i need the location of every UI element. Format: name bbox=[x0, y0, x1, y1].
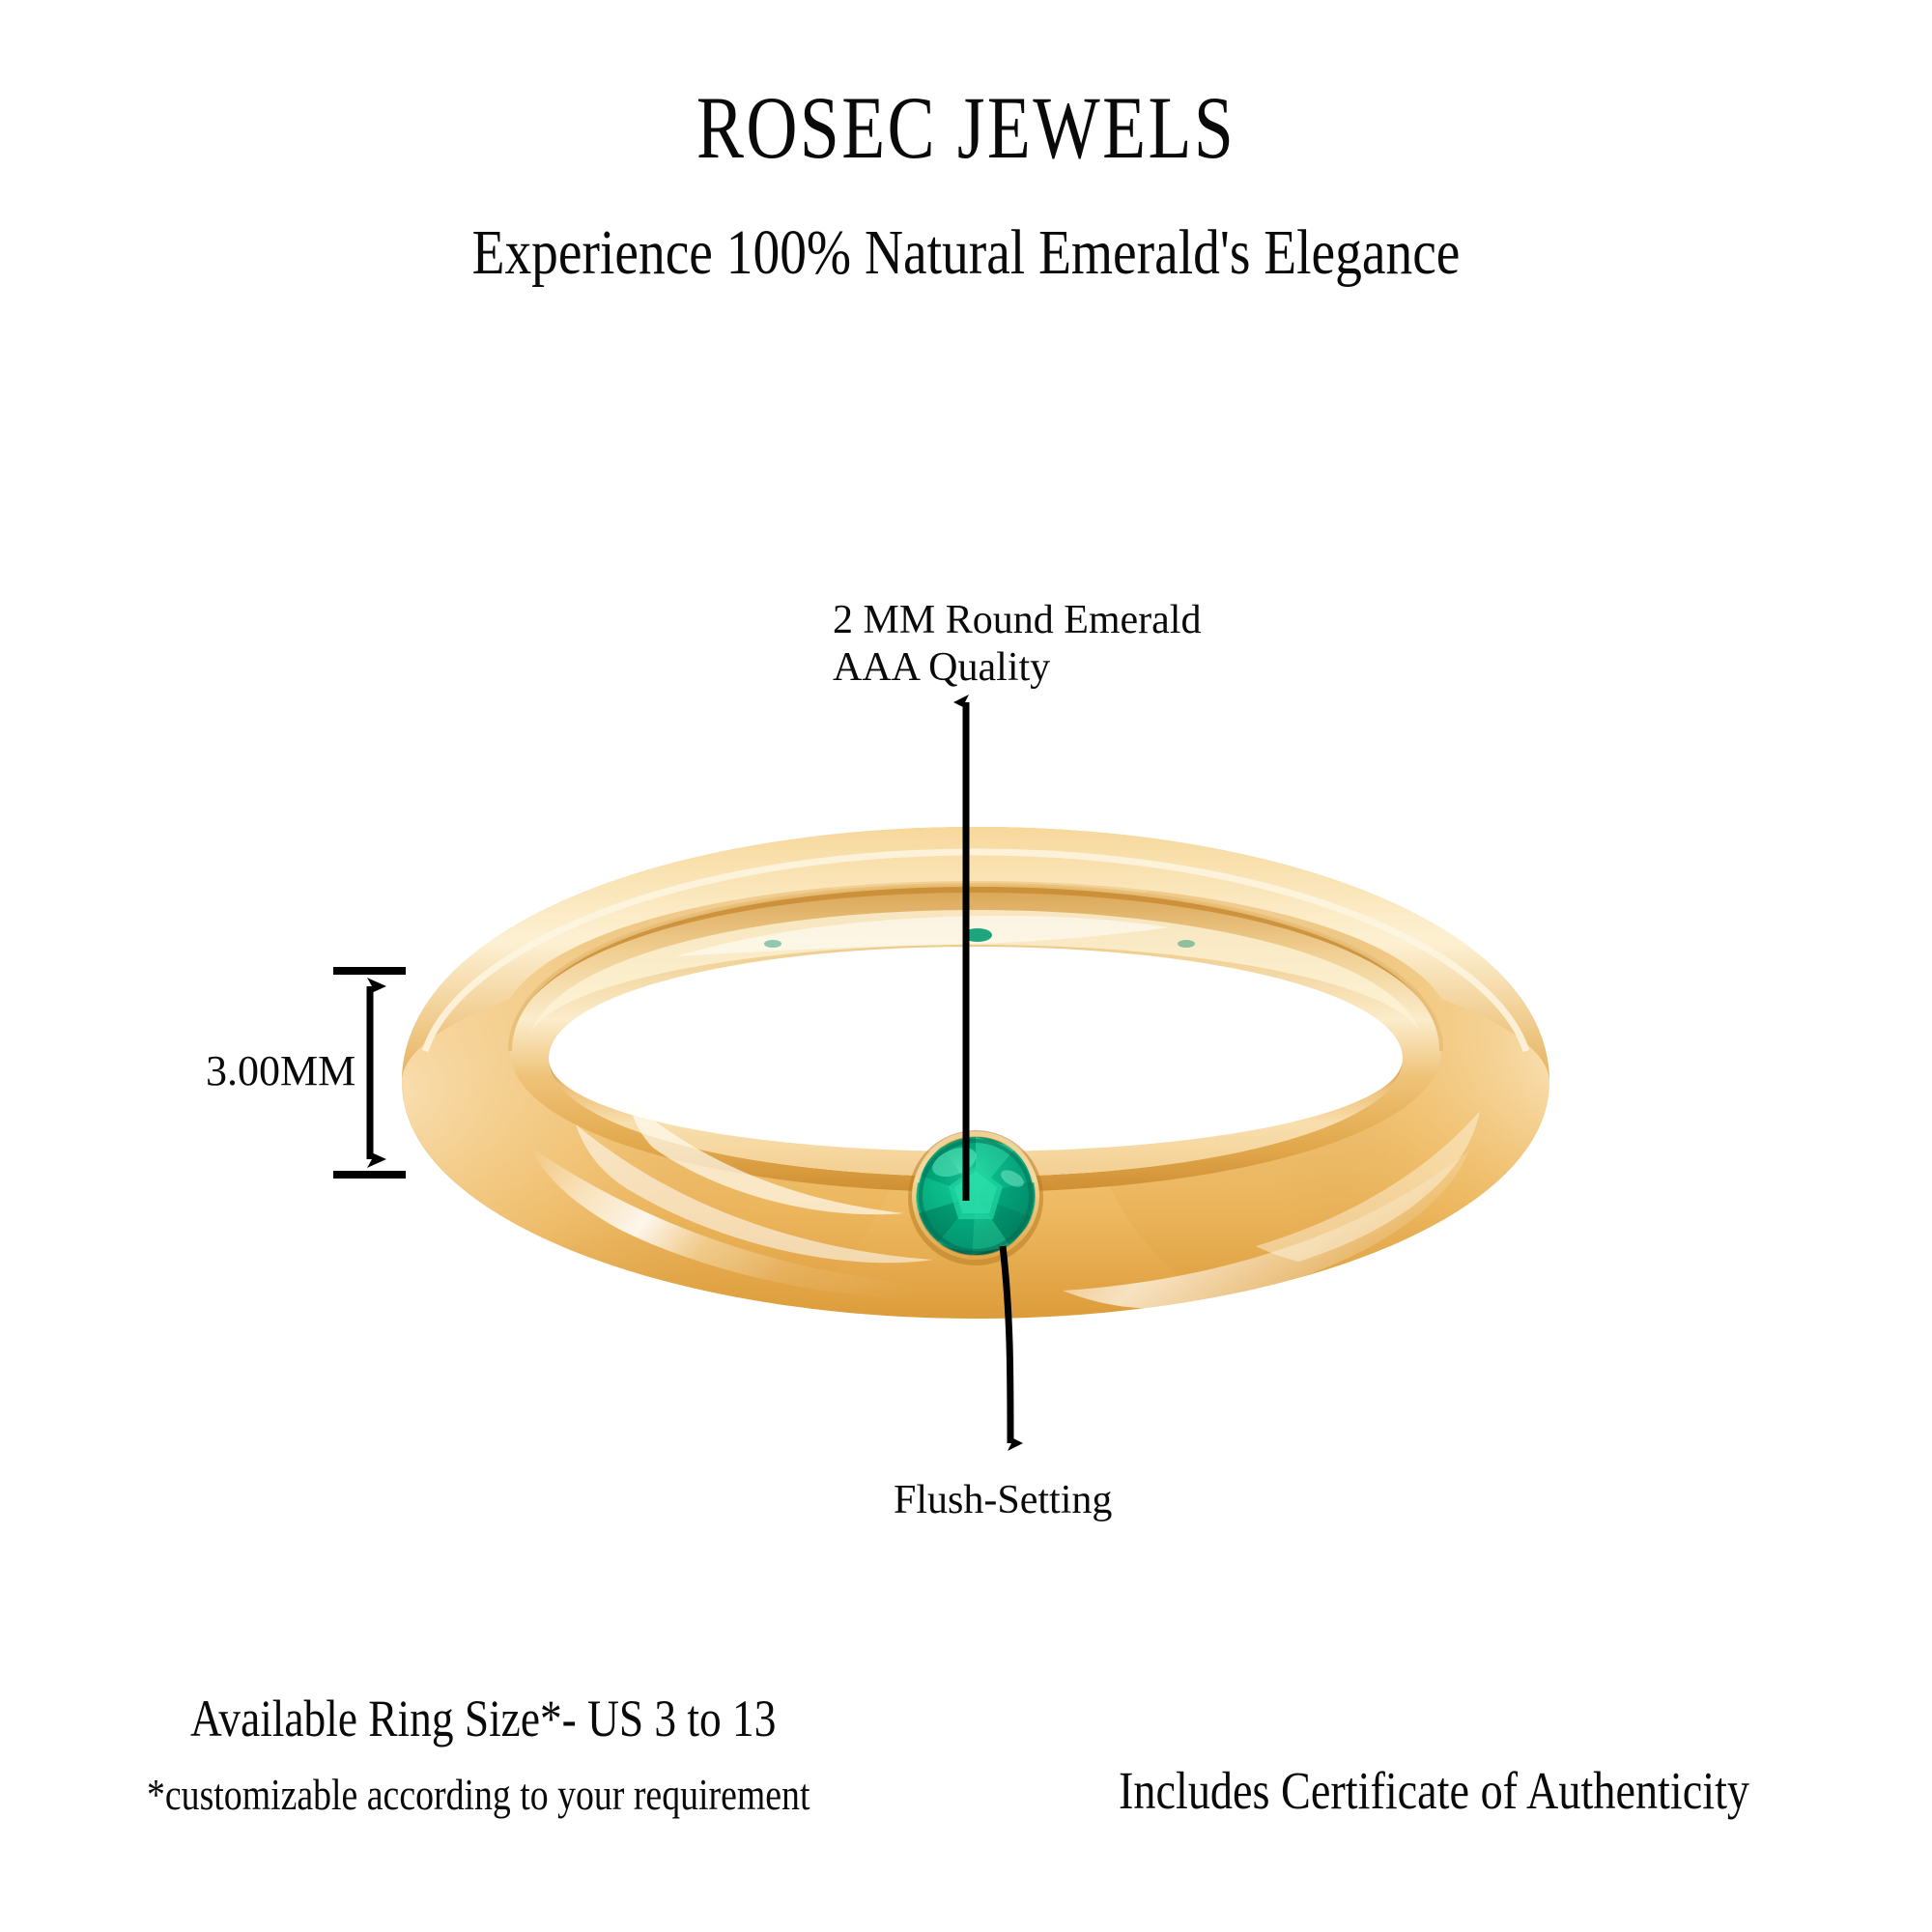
brand-title: ROSEC JEWELS bbox=[193, 83, 1739, 172]
ring-size-text: Available Ring Size*- US 3 to 13 bbox=[190, 1692, 776, 1745]
stone-callout-label: 2 MM Round Emerald AAA Quality bbox=[833, 597, 1201, 692]
product-infographic: ROSEC JEWELS Experience 100% Natural Eme… bbox=[0, 0, 1932, 1932]
band-width-label: 3.00MM bbox=[206, 1050, 355, 1093]
stone-callout-line2: AAA Quality bbox=[833, 644, 1201, 692]
brand-tagline: Experience 100% Natural Emerald's Elegan… bbox=[155, 221, 1777, 285]
ring-size-note-text: *customizable according to your requirem… bbox=[147, 1774, 810, 1817]
ring-product-image bbox=[386, 792, 1565, 1352]
emerald-gemstone bbox=[908, 1130, 1043, 1265]
stone-callout-line1: 2 MM Round Emerald bbox=[833, 597, 1201, 644]
certificate-text: Includes Certificate of Authenticity bbox=[1119, 1764, 1749, 1817]
ring-illustration bbox=[386, 792, 1565, 1352]
setting-callout-label: Flush-Setting bbox=[894, 1480, 1112, 1520]
